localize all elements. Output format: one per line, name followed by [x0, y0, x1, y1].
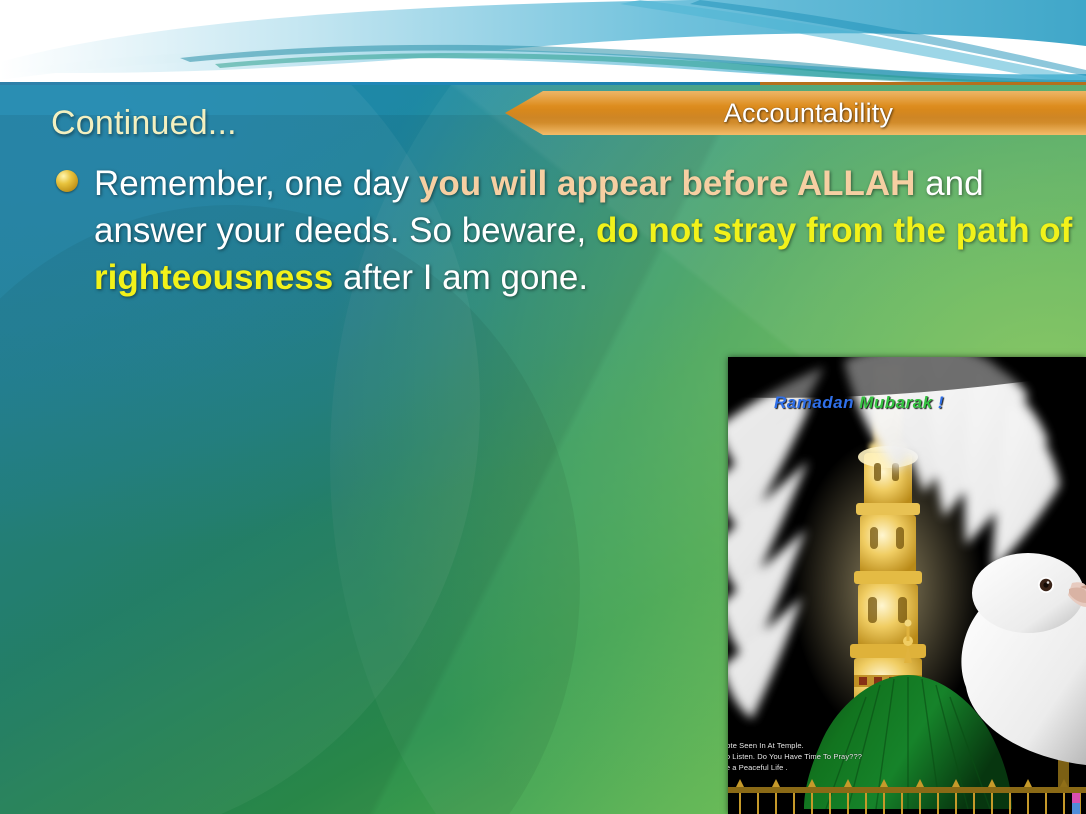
photo-caption-line-3: ve a Peaceful Life .	[728, 762, 862, 773]
bullet-segment-highlight-allah: you will appear before ALLAH	[419, 164, 916, 203]
photo-caption: uote Seen In At Temple. To Listen. Do Yo…	[728, 740, 862, 773]
gold-sphere-bullet-icon	[56, 170, 78, 192]
photo-caption-line-1: uote Seen In At Temple.	[728, 740, 862, 751]
slide-title-banner: Accountability	[505, 91, 1086, 135]
photo-caption-line-2: To Listen. Do You Have Time To Pray???	[728, 751, 862, 762]
greeting-word-ramadan: Ramadan	[774, 393, 854, 412]
slide-header-decoration	[0, 0, 1086, 86]
bullet-segment-plain-1: Remember, one day	[94, 164, 419, 203]
ramadan-mubarak-greeting: Ramadan Mubarak !	[774, 393, 944, 413]
greeting-exclamation: !	[938, 393, 944, 412]
page-title: Accountability	[505, 91, 1086, 135]
greeting-word-mubarak: Mubarak	[859, 393, 932, 412]
wave-graphic	[0, 0, 1086, 86]
slide-photo: Ramadan Mubarak ! uote Seen In At Temple…	[728, 357, 1086, 814]
bullet-segment-plain-3: after I am gone.	[333, 258, 588, 297]
presentation-slide: Accountability Continued... Remember, on…	[0, 0, 1086, 814]
continued-heading: Continued...	[51, 104, 237, 143]
bullet-item-text: Remember, one day you will appear before…	[94, 160, 1080, 301]
bullet-list: Remember, one day you will appear before…	[50, 160, 1080, 301]
